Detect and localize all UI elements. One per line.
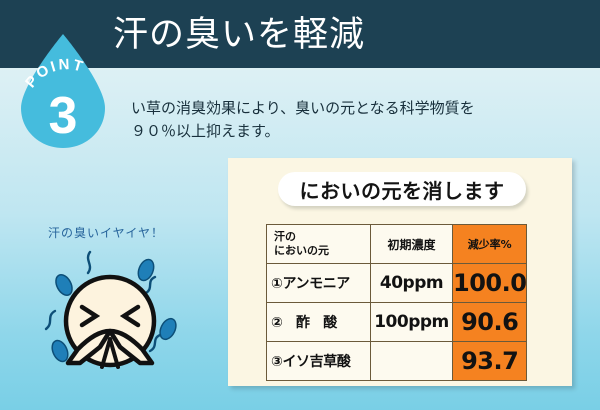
illustration-caption: 汗の臭いイヤイヤ！: [48, 224, 164, 241]
page-title: 汗の臭いを軽減: [113, 13, 365, 57]
table-cell-concentration: 100ppm: [371, 303, 453, 342]
lead-copy-line-2: ９０％以上抑えます。: [131, 121, 531, 144]
table-row: ③イソ吉草酸 93.7: [267, 342, 527, 381]
lead-copy-line-1: い草の消臭効果により、臭いの元となる科学物質を: [131, 98, 531, 121]
point-badge: POINT 3: [14, 32, 112, 150]
table-header-reduction: 減少率%: [453, 225, 527, 264]
result-card: においの元を消します 汗の においの元 初期濃度 減少率% ①アンモニア 40p…: [228, 158, 572, 386]
table-cell-concentration: 40ppm: [371, 264, 453, 303]
deodorant-results-table: 汗の においの元 初期濃度 減少率% ①アンモニア 40ppm 100.0 ② …: [266, 224, 527, 381]
table-cell-source: ② 酢 酸: [267, 303, 371, 342]
table-cell-source: ①アンモニア: [267, 264, 371, 303]
table-header-concentration: 初期濃度: [371, 225, 453, 264]
table-cell-reduction: 93.7: [453, 342, 527, 381]
table-header-source-line-1: 汗の: [274, 230, 370, 244]
point-badge-number: 3: [49, 87, 78, 145]
table-cell-source: ③イソ吉草酸: [267, 342, 371, 381]
card-pill-banner: においの元を消します: [278, 172, 526, 206]
table-row: ② 酢 酸 100ppm 90.6: [267, 303, 527, 342]
table-cell-reduction: 100.0: [453, 264, 527, 303]
promo-slide: 汗の臭いを軽減 POINT 3 (function () { var d = J…: [0, 0, 600, 410]
table-header-source: 汗の においの元: [267, 225, 371, 264]
card-pill-label: においの元を消します: [300, 175, 505, 204]
lead-copy: い草の消臭効果により、臭いの元となる科学物質を ９０％以上抑えます。: [131, 98, 531, 144]
table-cell-concentration: [371, 342, 453, 381]
table-header-source-line-2: においの元: [274, 244, 370, 258]
table-header-row: 汗の においの元 初期濃度 減少率%: [267, 225, 527, 264]
table-row: ①アンモニア 40ppm 100.0: [267, 264, 527, 303]
table-cell-reduction: 90.6: [453, 303, 527, 342]
illustration-figure: [28, 243, 208, 393]
